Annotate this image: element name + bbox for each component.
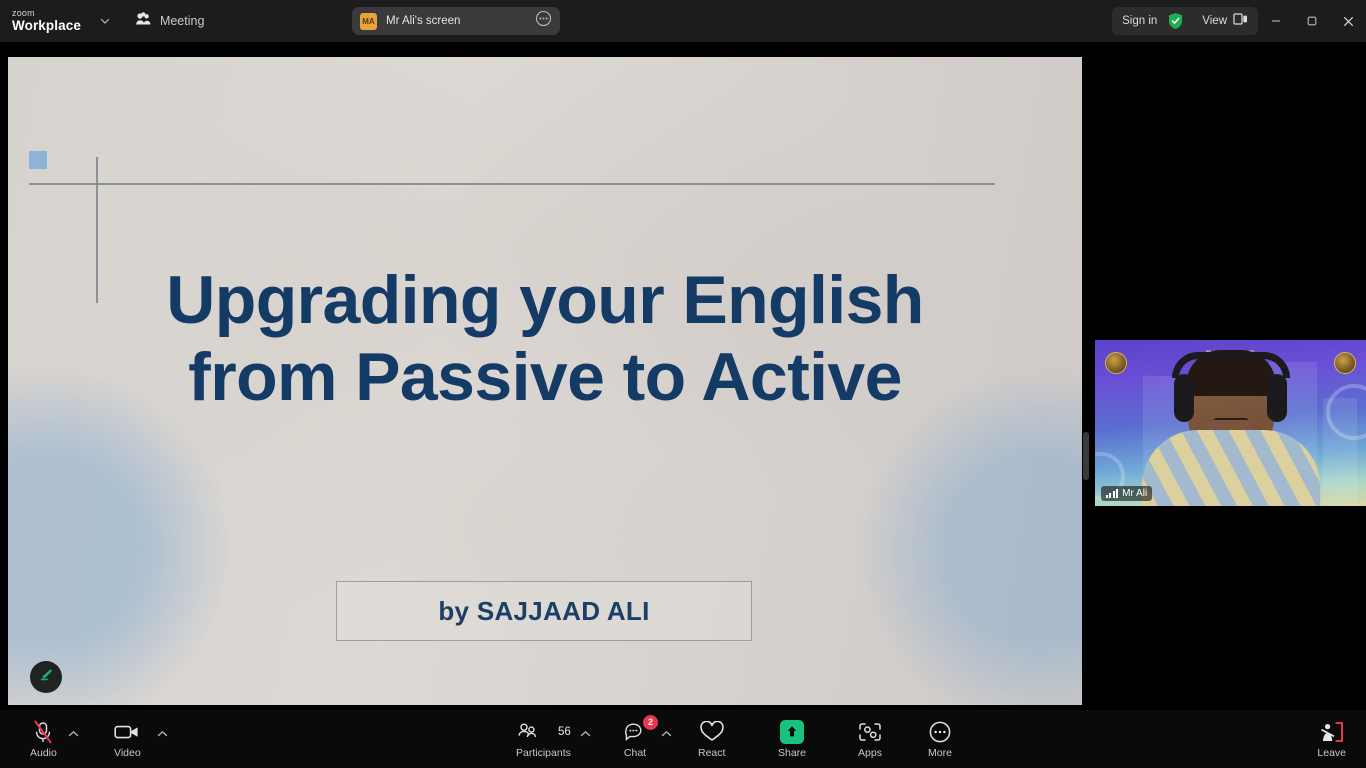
apps-label: Apps xyxy=(858,747,882,759)
screen-share-label: Mr Ali's screen xyxy=(386,15,535,27)
close-icon[interactable] xyxy=(1330,0,1366,42)
avatar: MA xyxy=(360,13,377,30)
slide-title-line1: Upgrading your English xyxy=(8,262,1082,339)
share-screen-up-arrow-icon xyxy=(780,720,804,744)
share-resize-handle[interactable] xyxy=(1083,432,1089,480)
tab-meeting-label: Meeting xyxy=(160,14,204,28)
top-bar: zoom Workplace Meeting MA Mr Ali's scree… xyxy=(0,0,1366,42)
audio-label: Audio xyxy=(30,747,57,759)
react-label: React xyxy=(698,747,725,759)
top-right-controls: Sign in View xyxy=(1112,7,1258,35)
shared-screen-view[interactable]: Upgrading your English from Passive to A… xyxy=(8,57,1082,705)
camera-icon xyxy=(114,720,140,744)
slide-author-text: by SAJJAAD ALI xyxy=(438,596,649,627)
headphone-earcup-left xyxy=(1174,374,1194,422)
chat-button[interactable]: 2 Chat xyxy=(617,710,653,768)
participant-name-label: Mr Ali xyxy=(1101,486,1152,501)
view-button-label: View xyxy=(1202,15,1227,27)
chat-options-chevron-up-icon[interactable] xyxy=(659,724,673,744)
chevron-down-icon[interactable] xyxy=(99,0,111,42)
screen-share-indicator[interactable]: MA Mr Ali's screen xyxy=(352,7,560,35)
video-button[interactable]: Video xyxy=(108,710,147,768)
slide-title-line2: from Passive to Active xyxy=(8,339,1082,416)
green-shield-check-icon[interactable] xyxy=(1167,12,1184,30)
participants-icon: ​ 56 xyxy=(516,720,571,744)
signal-bars-icon xyxy=(1106,489,1118,498)
slide-square-marker xyxy=(29,151,47,169)
more-button[interactable]: More xyxy=(922,710,958,768)
slide-horizontal-rule-top xyxy=(29,183,995,185)
people-group-icon xyxy=(135,12,152,31)
video-options-chevron-up-icon[interactable] xyxy=(155,724,169,744)
meeting-toolbar: Audio Video ​ 56 Participants xyxy=(0,710,1366,768)
window-controls xyxy=(1258,0,1366,42)
more-horizontal-circle-icon[interactable] xyxy=(535,10,552,32)
maximize-icon[interactable] xyxy=(1294,0,1330,42)
pen-annotate-icon xyxy=(38,666,55,688)
chat-label: Chat xyxy=(624,747,646,759)
more-dots-circle-icon xyxy=(928,720,952,744)
tab-meeting[interactable]: Meeting xyxy=(135,0,204,42)
slide-author-box: by SAJJAAD ALI xyxy=(336,581,752,641)
apps-grid-icon xyxy=(857,720,883,744)
share-screen-button[interactable]: Share xyxy=(772,710,812,768)
video-label: Video xyxy=(114,747,141,759)
view-button[interactable]: View xyxy=(1202,12,1248,31)
audio-button[interactable]: Audio xyxy=(24,710,63,768)
leave-door-icon xyxy=(1318,720,1346,744)
participants-options-chevron-up-icon[interactable] xyxy=(578,724,592,744)
headphone-earcup-right xyxy=(1267,374,1287,422)
react-button[interactable]: React xyxy=(692,710,731,768)
heart-icon xyxy=(699,720,725,744)
slide-title: Upgrading your English from Passive to A… xyxy=(8,262,1082,416)
participant-name-text: Mr Ali xyxy=(1122,488,1147,499)
participant-shirt xyxy=(1142,430,1320,506)
participants-label: Participants xyxy=(516,747,571,759)
annotate-button[interactable] xyxy=(30,661,62,693)
microphone-muted-icon xyxy=(32,720,54,744)
leave-label: Leave xyxy=(1317,747,1346,759)
layout-view-icon xyxy=(1233,12,1248,31)
brand-workplace-text: Workplace xyxy=(12,19,81,33)
zoom-brand-logo: zoom Workplace xyxy=(12,9,81,33)
apps-button[interactable]: Apps xyxy=(851,710,889,768)
participants-button[interactable]: ​ 56 Participants xyxy=(510,710,577,768)
more-label: More xyxy=(928,747,952,759)
participant-video-tile[interactable]: PRESENT Mr Ali xyxy=(1095,340,1366,506)
presentation-slide: Upgrading your English from Passive to A… xyxy=(8,57,1082,705)
leave-button[interactable]: Leave xyxy=(1311,710,1352,768)
chat-unread-badge: 2 xyxy=(643,715,658,730)
audio-options-chevron-up-icon[interactable] xyxy=(66,724,80,744)
share-label: Share xyxy=(778,747,806,759)
minimize-icon[interactable] xyxy=(1258,0,1294,42)
sign-in-button[interactable]: Sign in xyxy=(1122,15,1157,27)
chat-bubble-icon: 2 xyxy=(623,720,647,744)
meeting-stage: Upgrading your English from Passive to A… xyxy=(0,42,1366,710)
participants-count: 56 xyxy=(558,726,571,738)
